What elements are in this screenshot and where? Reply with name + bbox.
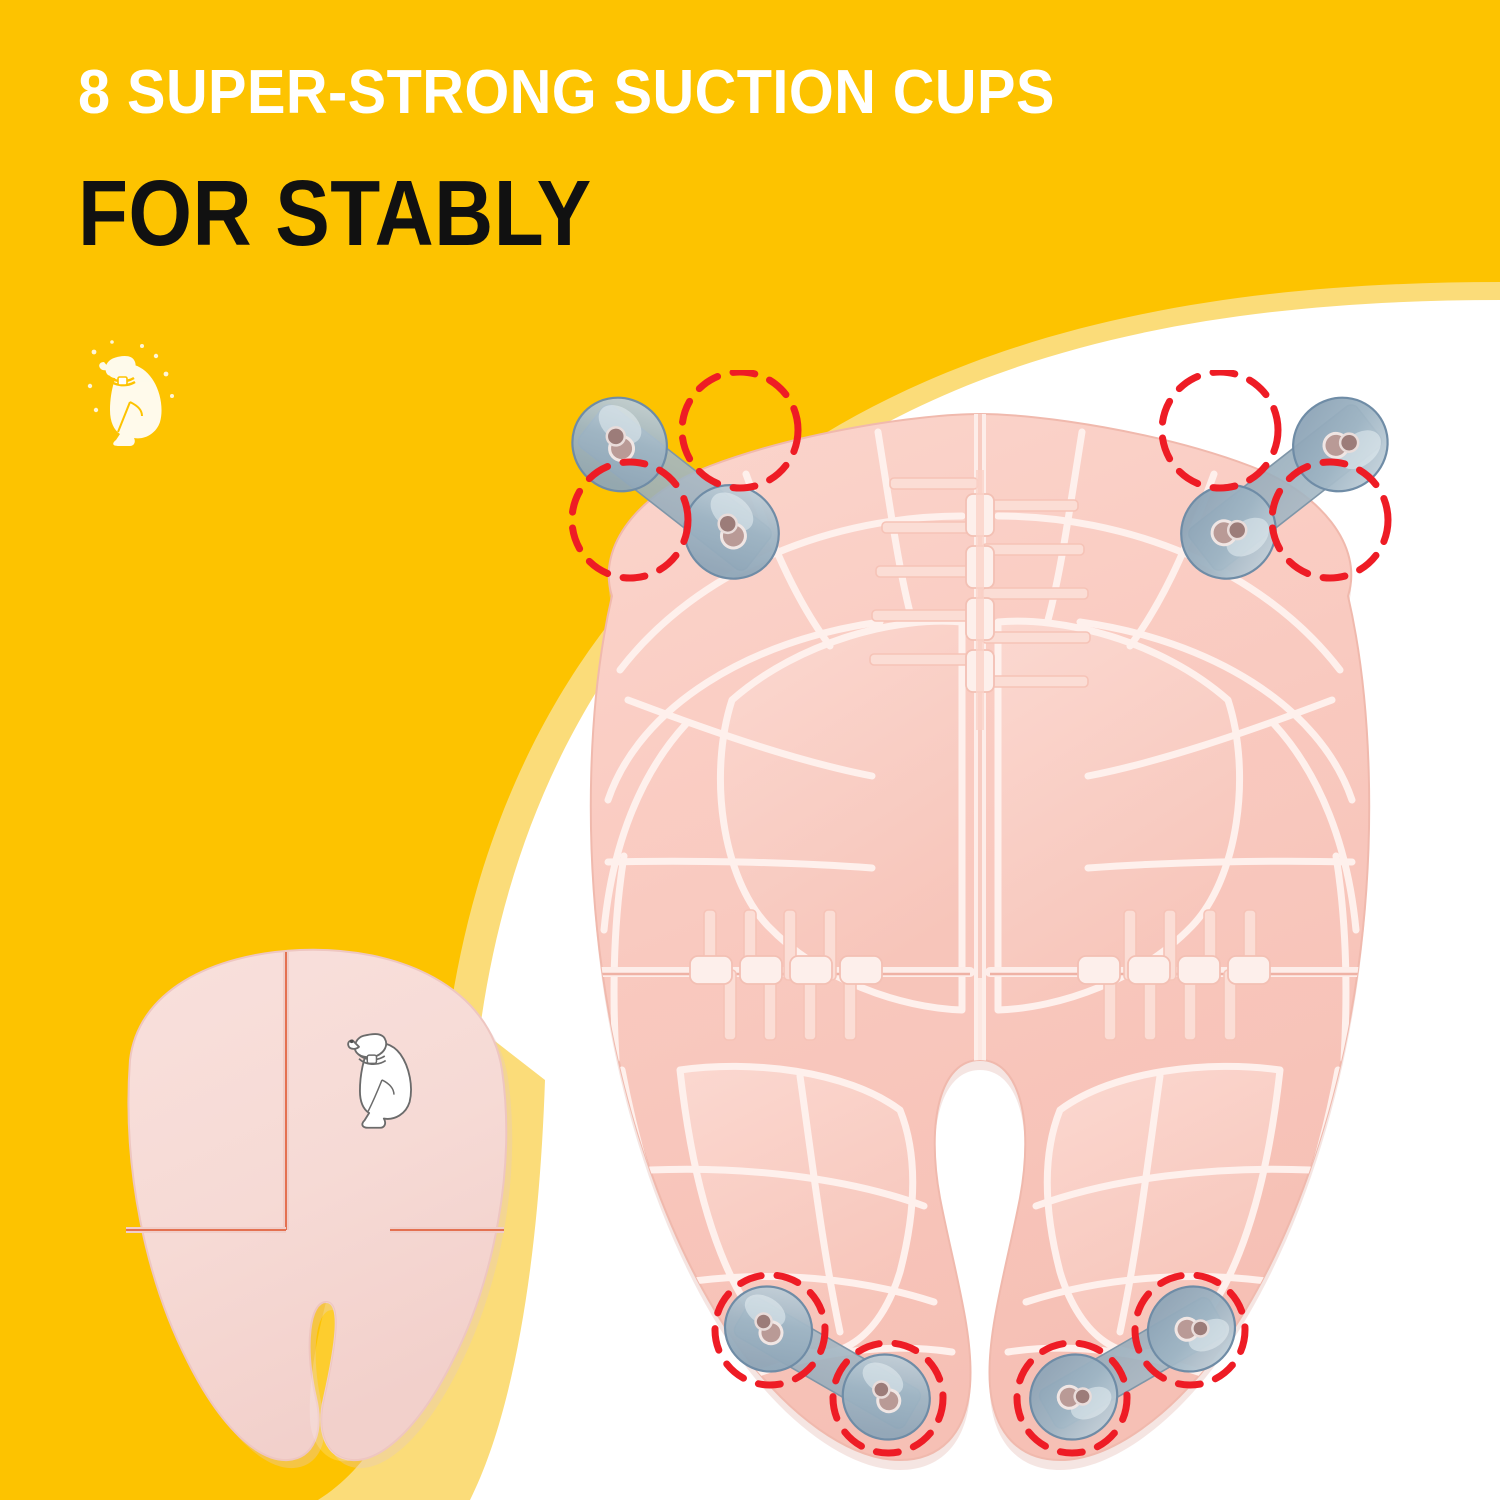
- product-image-folded: [90, 930, 570, 1490]
- polar-bear-logo-icon: [72, 330, 202, 450]
- headline-block: 8 SUPER-STRONG SUCTION CUPS FOR STABLY: [78, 60, 1278, 260]
- product-image-unfolded: [500, 370, 1460, 1500]
- headline-secondary: FOR STABLY: [78, 167, 1134, 260]
- headline-primary: 8 SUPER-STRONG SUCTION CUPS: [78, 60, 1194, 125]
- product-feature-banner: 8 SUPER-STRONG SUCTION CUPS FOR STABLY: [0, 0, 1500, 1500]
